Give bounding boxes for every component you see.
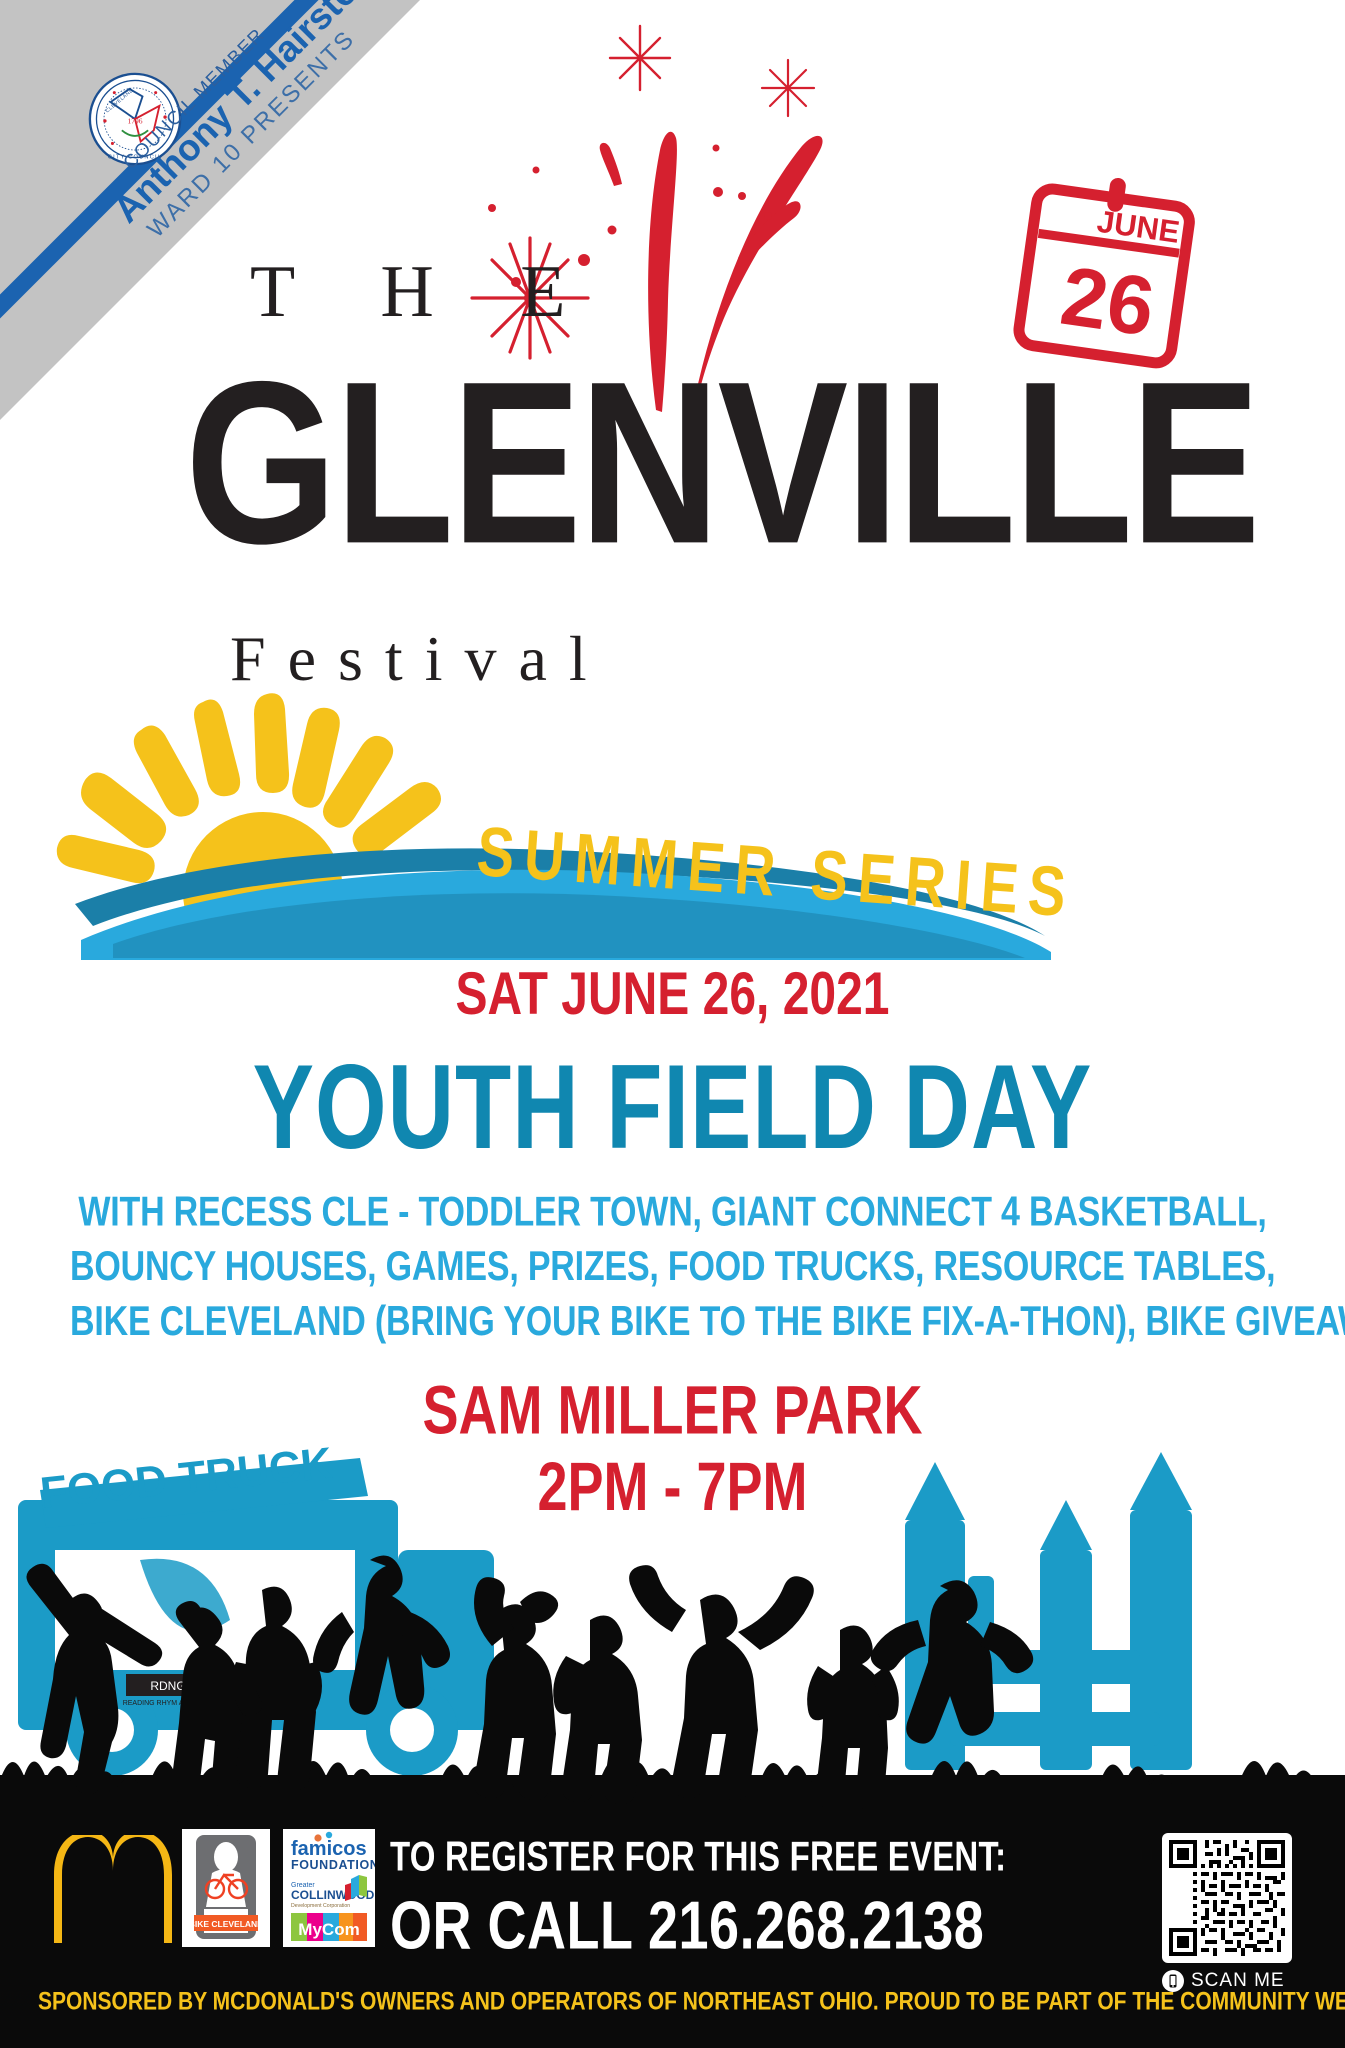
foundation-label: FOUNDATION: [291, 1858, 375, 1872]
event-detail-line: WITH RECESS CLE - TODDLER TOWN, GIANT CO…: [70, 1185, 1275, 1240]
event-detail-line: BOUNCY HOUSES, GAMES, PRIZES, FOOD TRUCK…: [70, 1240, 1275, 1295]
event-poster: 1796 CLEVELAND CITY COUNCIL COUNCIL MEMB…: [0, 0, 1345, 2048]
page-title: GLENVILLE: [185, 330, 1258, 596]
register-phone-line[interactable]: OR CALL 216.268.2138: [390, 1887, 890, 1965]
svg-text:1796: 1796: [127, 117, 142, 126]
development-corporation-label: Development Corporation: [291, 1903, 350, 1909]
register-instruction: TO REGISTER FOR THIS FREE EVENT:: [390, 1833, 890, 1881]
mcdonalds-logo-icon: [52, 1835, 174, 1947]
registration-info: TO REGISTER FOR THIS FREE EVENT: OR CALL…: [390, 1833, 890, 1949]
title-festival: Festival: [230, 622, 609, 696]
qr-code[interactable]: [1162, 1833, 1292, 1963]
event-name: YOUTH FIELD DAY: [0, 1040, 1345, 1177]
famicos-foundation-logo-icon: famicos FOUNDATION Greater COLLINWOOD De…: [283, 1829, 375, 1947]
svg-text:RDNG: RDNG: [150, 1679, 185, 1693]
event-details-list: WITH RECESS CLE - TODDLER TOWN, GIANT CO…: [70, 1185, 1275, 1351]
cleveland-city-council-seal-icon: 1796 CLEVELAND CITY COUNCIL: [88, 72, 182, 166]
bike-cleveland-label: BIKE CLEVELAND: [189, 1919, 264, 1929]
mycom-label: MyCom: [298, 1920, 359, 1939]
famicos-label: famicos: [291, 1838, 367, 1860]
title-the: T H E: [250, 250, 600, 335]
qr-code-icon: [1169, 1840, 1285, 1956]
svg-text:CITY COUNCIL: CITY COUNCIL: [108, 154, 162, 160]
event-detail-line: BIKE CLEVELAND (BRING YOUR BIKE TO THE B…: [70, 1295, 1275, 1350]
bike-cleveland-logo-icon: BIKE CLEVELAND: [182, 1829, 270, 1947]
footer-bar: BIKE CLEVELAND famicos FOUNDATION Greate…: [0, 1815, 1345, 2048]
children-silhouette-illustration: FOOD TRUCK RDNG READING RHYM ACADEMY: [0, 1400, 1345, 1820]
event-date: SAT JUNE 26, 2021: [0, 960, 1345, 1029]
sponsor-credit: SPONSORED BY MCDONALD'S OWNERS AND OPERA…: [38, 1988, 1345, 2017]
mycom-logo-icon: MyCom: [291, 1913, 367, 1941]
